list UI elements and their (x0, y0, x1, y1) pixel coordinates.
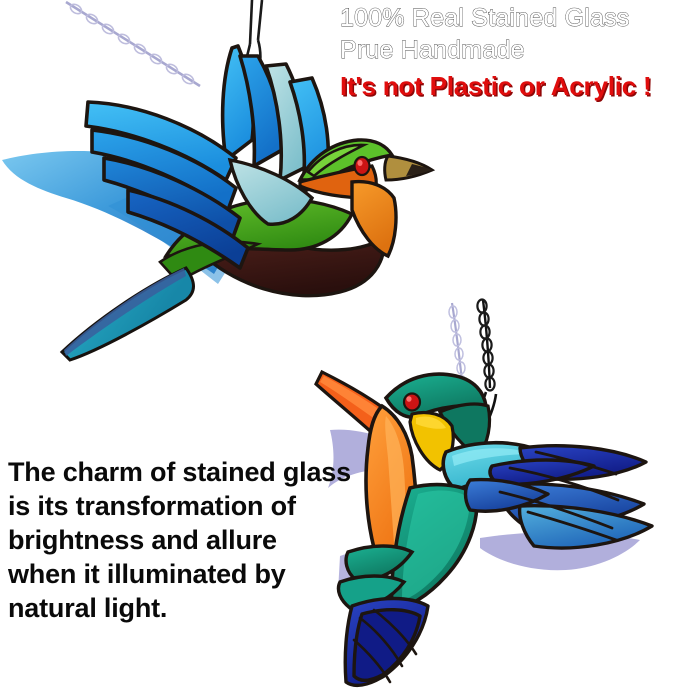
marketing-line-1: 100% Real Stained Glass (340, 2, 679, 34)
caption-line-3: brightness and allure (8, 523, 408, 557)
eye-highlight-bottom-right (406, 396, 411, 402)
caption-line-4: when it illuminated by (8, 557, 408, 591)
product-image-canvas: 100% Real Stained Glass Prue Handmade It… (0, 0, 679, 699)
caption-line-5: natural light. (8, 591, 408, 625)
caption-line-2: is its transformation of (8, 489, 408, 523)
eye-bead-bottom-right (404, 394, 420, 411)
marketing-line-3-highlight: It's not Plastic or Acrylic ! (340, 69, 679, 103)
caption-block: The charm of stained glass is its transf… (8, 455, 408, 625)
caption-line-1: The charm of stained glass (8, 455, 408, 489)
marketing-text-block: 100% Real Stained Glass Prue Handmade It… (340, 2, 679, 103)
marketing-line-2: Prue Handmade (340, 34, 679, 66)
